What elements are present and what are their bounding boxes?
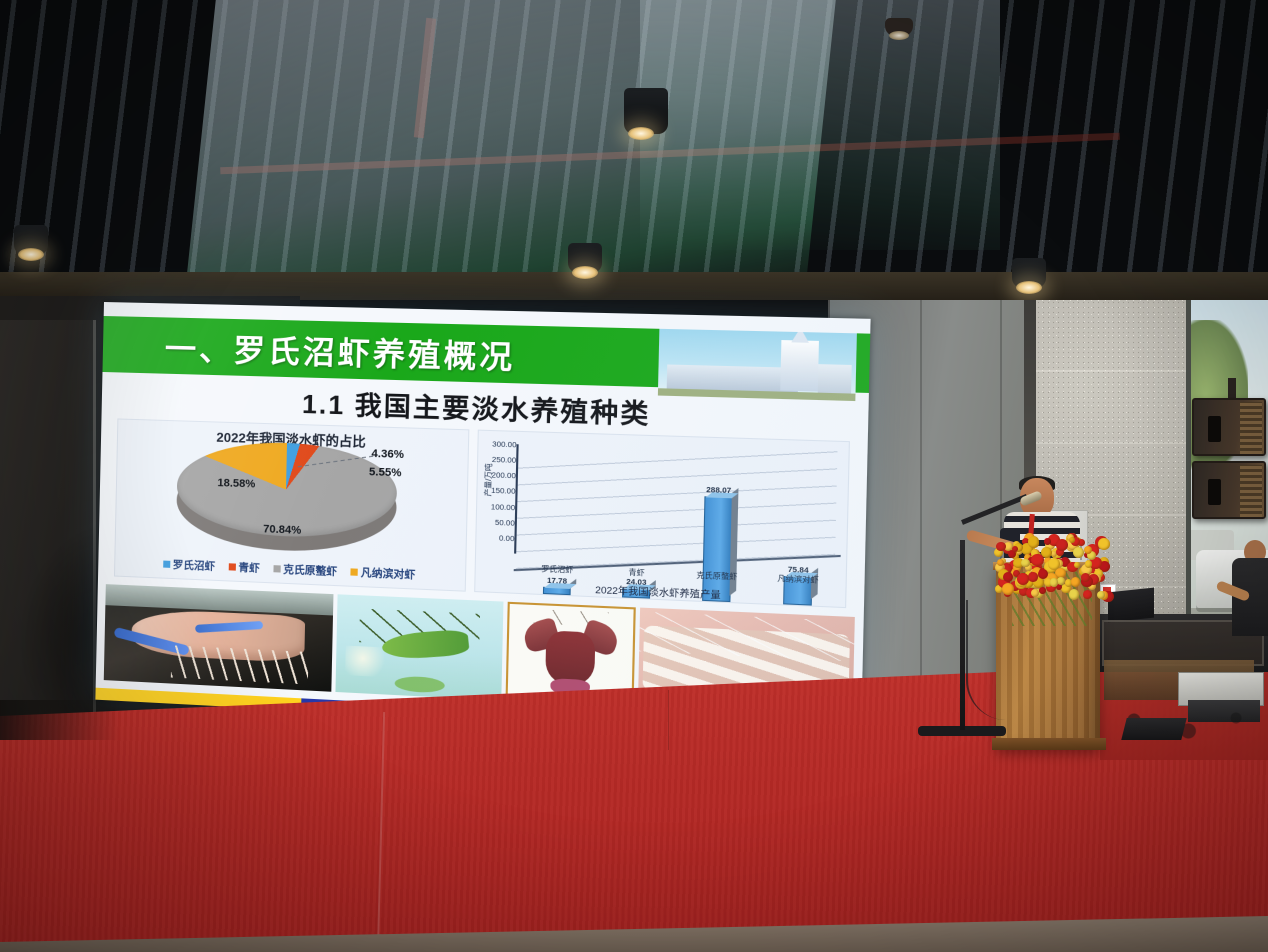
legend-item-luoshizhaoxia: 罗氏沼虾 [163,557,216,574]
floor-monitor-wedge [1121,718,1186,740]
crayfish-body [545,630,596,686]
y-tick: 100.00 [491,502,515,512]
building-tower [780,340,819,392]
pie-chart: 2022年我国淡水虾的占比 4.36% 5.55% 18.58% 70.84% [114,418,469,591]
bar-chart: 产量/万吨 300.00 250.00 200.00 150.00 100.00… [474,430,850,609]
carpet-seam [668,690,669,750]
ceiling-spotlight [568,243,602,273]
line-array-speaker [1192,461,1266,519]
flower-bloom [1083,590,1092,599]
flower-bloom [996,542,1005,551]
flower-bloom [1048,558,1060,570]
ceiling-smoke-detector [885,18,913,36]
pie-label-keshi: 70.84% [263,523,301,537]
flower-bloom [1071,577,1081,587]
baffle-ceiling [0,0,1268,300]
giant-freshwater-prawn-photo [104,584,333,692]
y-tick: 150.00 [491,486,515,496]
campus-building-photo [658,329,857,401]
pie-label-fannabin: 18.58% [217,477,255,490]
legend-label: 克氏原螯虾 [283,562,337,579]
flower-bloom [1073,547,1084,558]
flower-bloom [1028,572,1037,581]
legend-swatch-blue [163,561,170,568]
y-tick: 300.00 [492,439,516,449]
oriental-river-prawn-illustration [335,594,504,700]
line-array-speakers [1192,398,1266,524]
projector-light-reflection-secondary [640,0,1000,250]
ceiling-spotlight [624,88,668,134]
flower-bloom [1038,569,1048,579]
flower-bloom [1050,578,1058,586]
flower-bloom [1069,589,1079,599]
flower-bloom [1098,538,1110,550]
mic-stand-pole [960,540,965,730]
legend-swatch-gray [273,565,280,572]
building-block-right [818,364,852,394]
conference-hall-photo: 一、罗氏沼虾养殖概况 1.1 我国主要淡水养殖种类 2022年我国淡水虾的占比 [0,0,1268,952]
y-tick: 0.00 [499,533,515,543]
ceiling-spotlight [14,225,48,255]
lily-pad [395,675,445,693]
flower-bloom [1085,560,1092,567]
ceiling-spotlight [1012,258,1046,288]
line-array-speaker [1192,398,1266,456]
legend-item-fannabinduixia: 凡纳滨对虾 [350,564,415,582]
flower-bloom [1056,539,1069,552]
pie-label-luoshi: 4.36% [371,448,404,461]
legend-label: 罗氏沼虾 [173,557,216,574]
prawn-legs [171,645,309,685]
slide-section-title: 一、罗氏沼虾养殖概况 [103,321,516,377]
legend-swatch-red [228,563,235,570]
flower-bloom [1028,536,1040,548]
flower-bloom [997,559,1004,566]
charts-row: 2022年我国淡水虾的占比 4.36% 5.55% 18.58% 70.84% [114,418,850,608]
speaker-grille [1240,465,1262,517]
flower-bloom [1002,583,1014,595]
y-tick: 250.00 [492,455,516,465]
legend-item-keshiyuanaoxia: 克氏原螯虾 [273,561,337,579]
presentation-slide: 一、罗氏沼虾养殖概况 1.1 我国主要淡水养殖种类 2022年我国淡水虾的占比 [95,302,870,740]
speaker-grille [1240,402,1262,454]
flower-bloom [1003,572,1013,582]
floral-arrangement [988,528,1112,600]
pie-legend: 罗氏沼虾 青虾 克氏原螯虾 凡纳滨对虾 [115,555,465,585]
stage-monitor-speaker [1108,588,1154,623]
flower-bloom [1074,562,1080,568]
projection-screen: 一、罗氏沼虾养殖概况 1.1 我国主要淡水养殖种类 2022年我国淡水虾的占比 [95,302,870,740]
legend-swatch-orange [350,568,357,575]
pie-graphic: 4.36% 5.55% 18.58% 70.84% [176,439,398,552]
stage-shadow-left [0,700,120,740]
category-label: 青虾 [612,566,662,583]
legend-item-qingxia: 青虾 [228,559,260,575]
legend-label: 青虾 [238,560,260,576]
lectern-base [992,738,1106,750]
av-technician [1232,540,1268,650]
pie-label-qingxia: 5.55% [369,466,402,479]
category-label: 凡纳滨对虾 [772,572,823,589]
flower-bloom [1031,589,1039,597]
category-label: 罗氏沼虾 [533,563,582,580]
category-label: 克氏原螯虾 [692,569,743,586]
legend-label: 凡纳滨对虾 [361,565,416,583]
wall-panel-seam [920,300,922,730]
flower-bloom [1031,554,1043,566]
bar-chart-y-axis-ticks: 300.00 250.00 200.00 150.00 100.00 50.00… [483,439,517,543]
mic-cable [966,600,1006,720]
y-tick: 200.00 [491,471,515,481]
aquarium-background [105,584,333,615]
flower-bloom [1039,587,1046,594]
y-tick: 50.00 [495,518,515,528]
flower-bloom [1044,538,1051,545]
